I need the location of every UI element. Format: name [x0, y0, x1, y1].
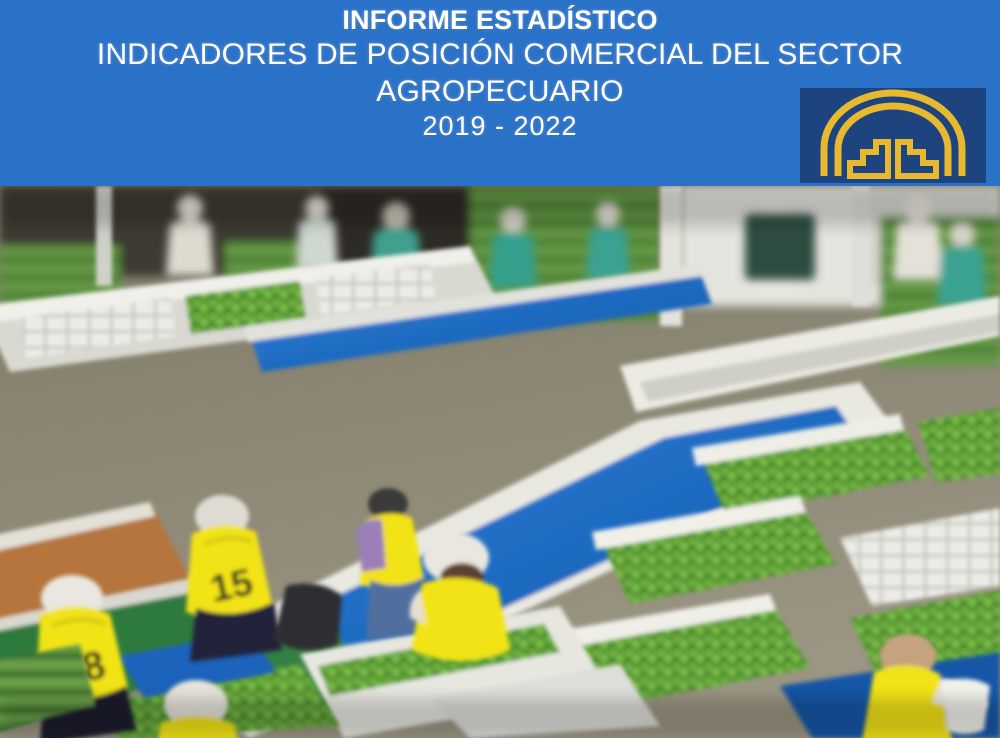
stepped-arch-icon: [800, 88, 986, 183]
header-banner: INFORME ESTADÍSTICO INDICADORES DE POSIC…: [0, 0, 1000, 186]
svg-text:15: 15: [206, 561, 256, 611]
institution-logo: [800, 88, 986, 183]
packing-plant-scene: 98 15: [0, 186, 1000, 738]
cover-photograph: 98 15: [0, 186, 1000, 738]
page-title: INFORME ESTADÍSTICO: [0, 4, 1000, 37]
report-cover-page: INFORME ESTADÍSTICO INDICADORES DE POSIC…: [0, 0, 1000, 738]
page-subtitle-line1: INDICADORES DE POSICIÓN COMERCIAL DEL SE…: [0, 37, 1000, 74]
